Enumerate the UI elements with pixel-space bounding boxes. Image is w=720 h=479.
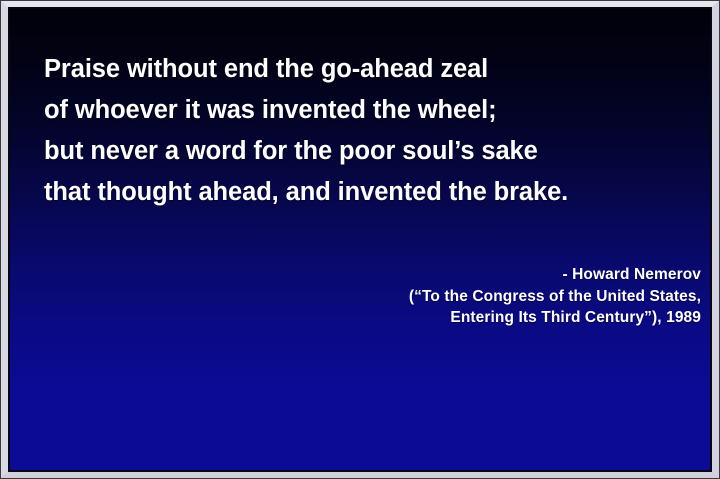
- slide-canvas-border: Praise without end the go-ahead zeal of …: [8, 7, 712, 472]
- poem-line-2: of whoever it was invented the wheel;: [44, 90, 684, 131]
- quotation-slide: Praise without end the go-ahead zeal of …: [0, 0, 720, 479]
- attribution-block: - Howard Nemerov (“To the Congress of th…: [141, 264, 701, 329]
- poem-line-3: but never a word for the poor soul’s sak…: [44, 131, 684, 172]
- poem-line-4: that thought ahead, and invented the bra…: [44, 172, 684, 213]
- attribution-work-line-2: Entering Its Third Century”), 1989: [141, 307, 701, 329]
- attribution-author: - Howard Nemerov: [141, 264, 701, 286]
- attribution-work-line-1: (“To the Congress of the United States,: [141, 286, 701, 308]
- poem-text-block: Praise without end the go-ahead zeal of …: [44, 49, 684, 213]
- slide-background-gradient: Praise without end the go-ahead zeal of …: [10, 9, 710, 470]
- poem-line-1: Praise without end the go-ahead zeal: [44, 49, 684, 90]
